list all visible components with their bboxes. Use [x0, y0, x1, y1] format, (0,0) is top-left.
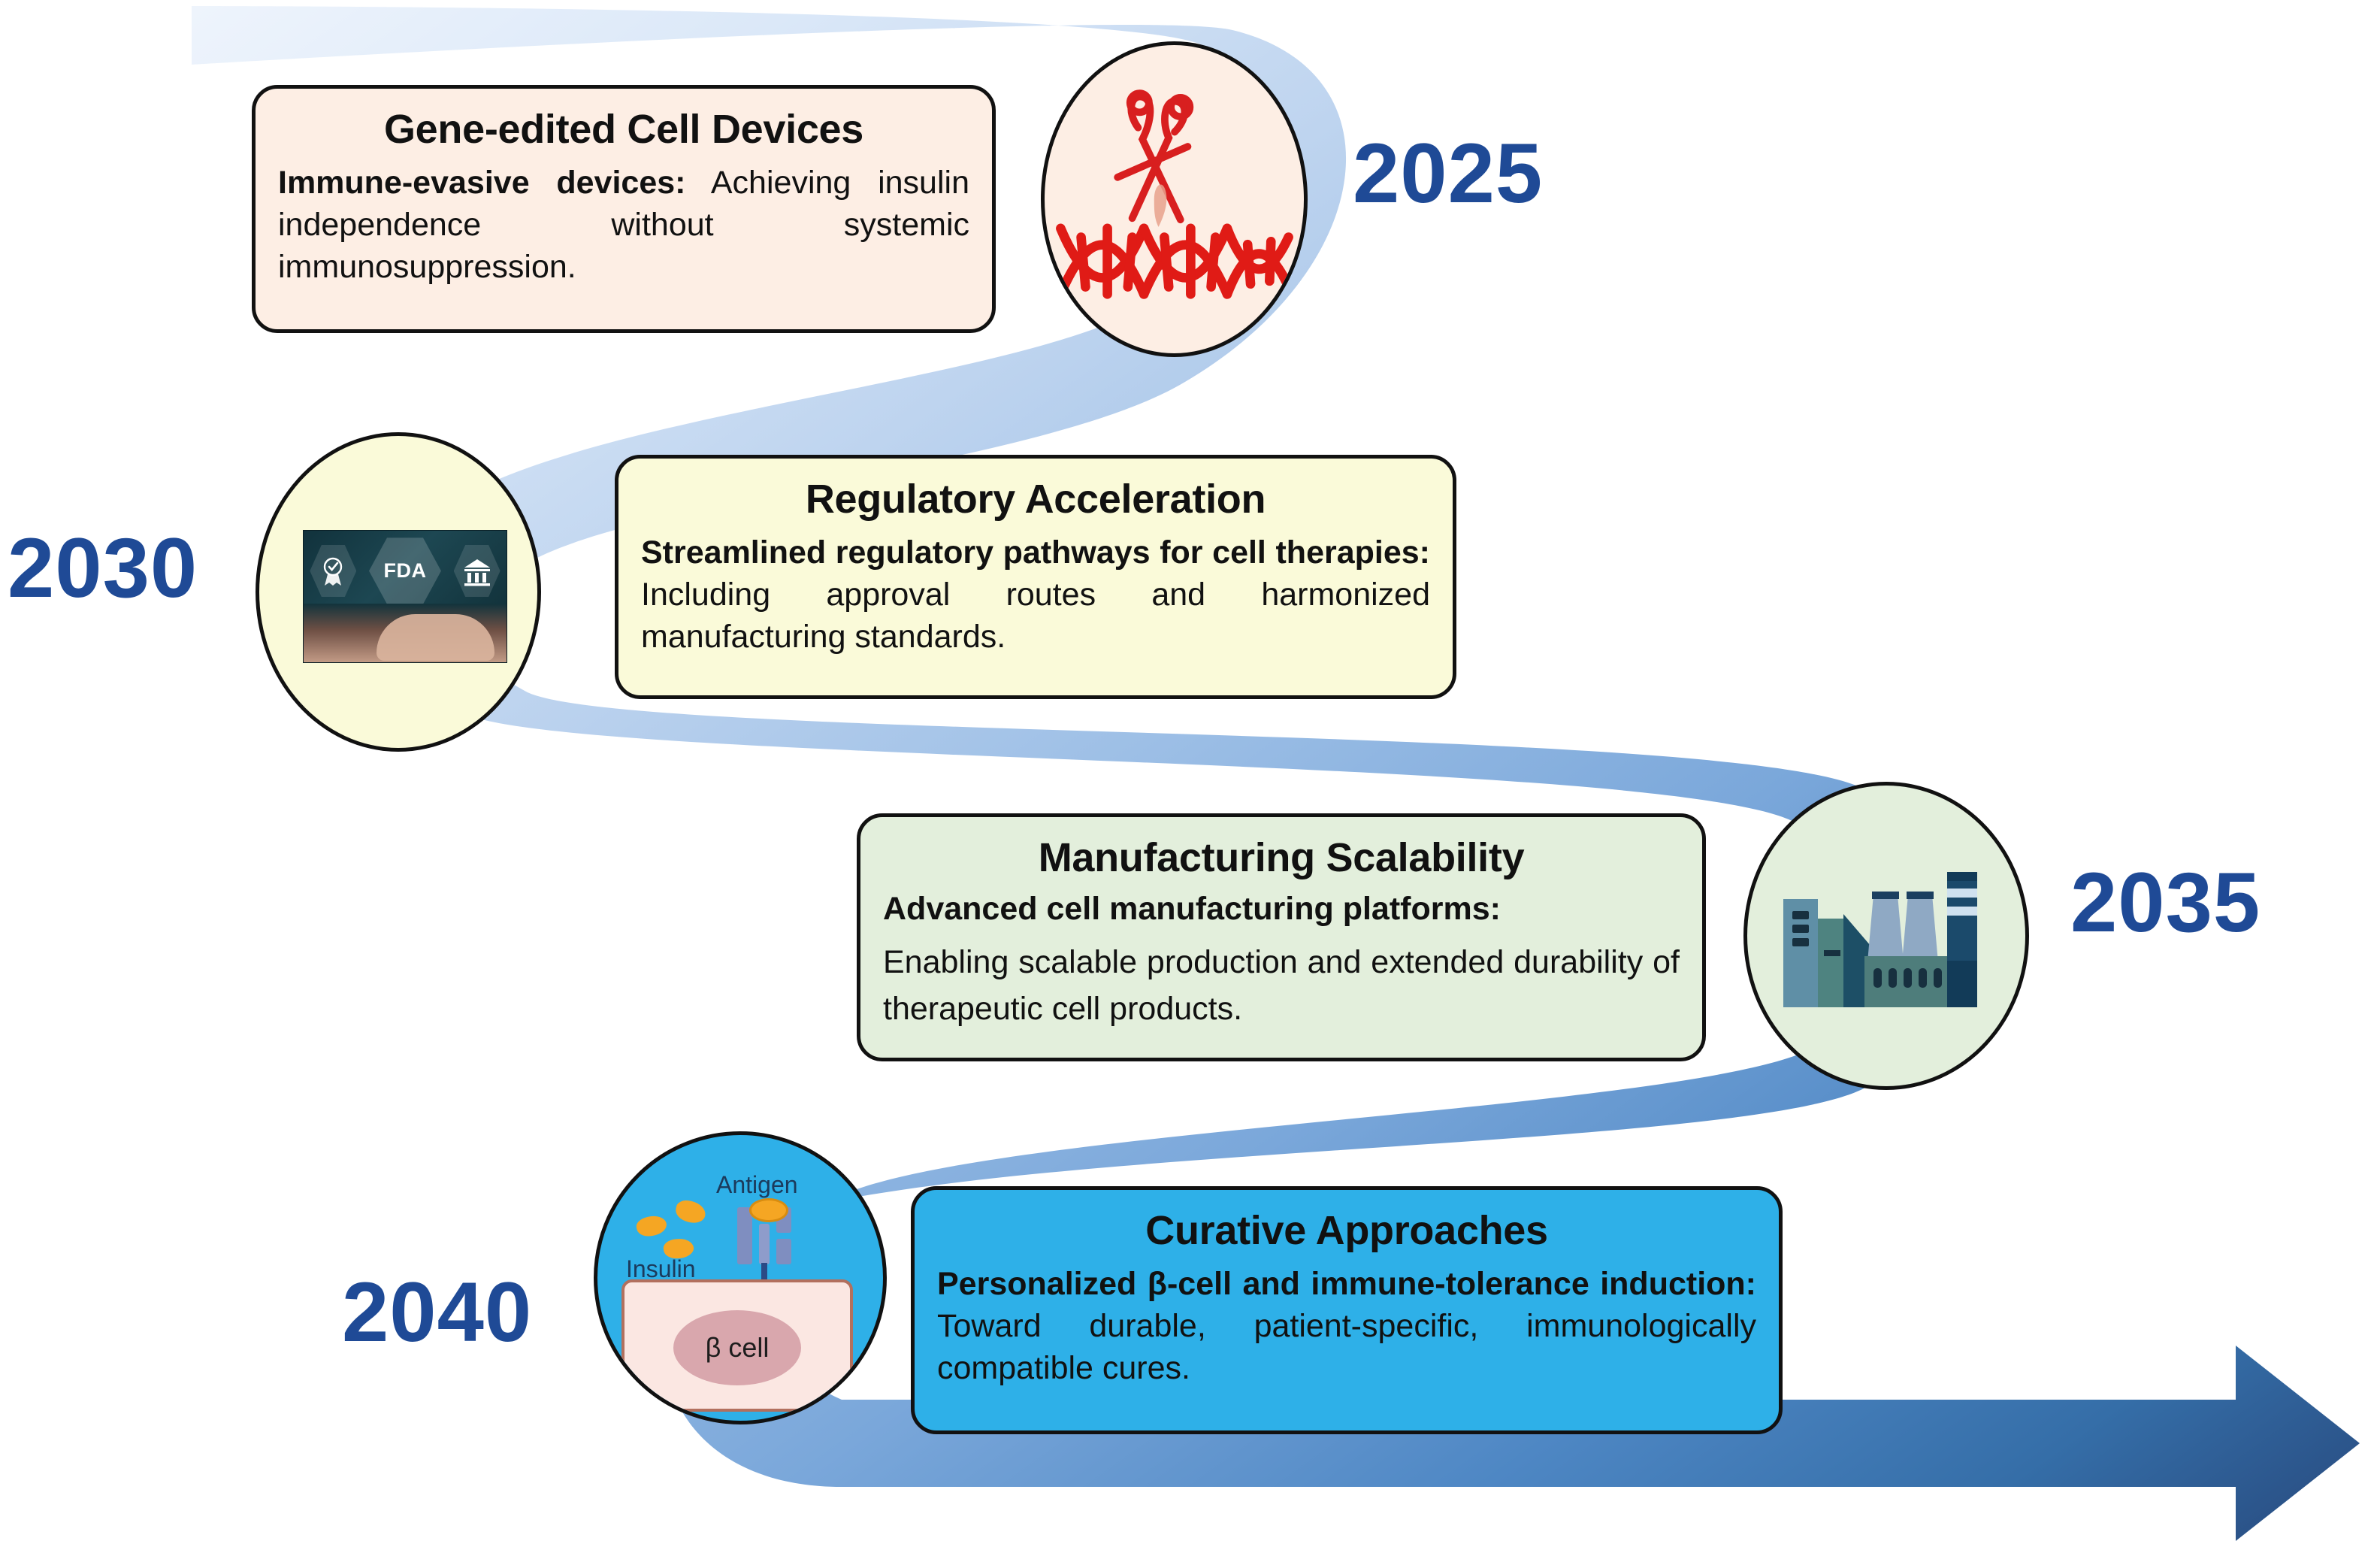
- milestone-card-2040[interactable]: Curative Approaches Personalized β-cell …: [911, 1186, 1783, 1434]
- receptor-icon: [737, 1207, 791, 1288]
- card-title-2040: Curative Approaches: [937, 1208, 1756, 1253]
- card-body-rest-2035: Enabling scalable production and extende…: [883, 940, 1680, 1031]
- factory-icon: [1783, 872, 1995, 1007]
- card-title-2035: Manufacturing Scalability: [883, 835, 1680, 880]
- antigen-dot-icon: [749, 1198, 788, 1222]
- beta-cell-nucleus: β cell: [673, 1310, 801, 1385]
- card-body-rest-2030: Including approval routes and harmonized…: [641, 577, 1430, 655]
- year-label-2040: 2040: [342, 1270, 532, 1355]
- milestone-circle-2040[interactable]: Antigen Insulin β cell: [594, 1131, 887, 1424]
- year-label-2025: 2025: [1353, 132, 1543, 216]
- year-label-2030: 2030: [8, 526, 198, 610]
- certification-badge-icon: [310, 544, 356, 598]
- open-hand-photo: [304, 604, 507, 662]
- year-label-2035: 2035: [2070, 861, 2261, 945]
- milestone-circle-2035[interactable]: [1743, 782, 2029, 1090]
- milestone-circle-2030[interactable]: FDA: [256, 432, 541, 752]
- government-building-icon: [454, 544, 500, 598]
- card-body-lead-2040: Personalized β-cell and immune-tolerance…: [937, 1266, 1756, 1302]
- cell-membrane-box: β cell: [621, 1279, 853, 1412]
- milestone-card-2025[interactable]: Gene-edited Cell Devices Immune-evasive …: [252, 85, 996, 333]
- beta-cell-diagram-icon: Antigen Insulin β cell: [597, 1135, 883, 1421]
- milestone-card-2035[interactable]: Manufacturing Scalability Advanced cell …: [857, 813, 1706, 1061]
- insulin-granule-icon: [634, 1213, 668, 1240]
- fda-approval-photo-icon: FDA: [303, 530, 507, 663]
- card-body-lead-2025: Immune-evasive devices:: [278, 165, 685, 201]
- beta-cell-label: β cell: [706, 1332, 770, 1364]
- card-body-2040: Personalized β-cell and immune-tolerance…: [937, 1264, 1756, 1390]
- fda-label: FDA: [383, 559, 426, 583]
- insulin-granule-icon: [674, 1198, 708, 1225]
- card-body-2030: Streamlined regulatory pathways for cell…: [641, 532, 1430, 658]
- hexagon-row: FDA: [304, 535, 507, 607]
- card-body-rest-2040: Toward durable, patient-specific, immuno…: [937, 1308, 1756, 1386]
- dna-scissors-icon: [1045, 45, 1304, 353]
- milestone-circle-2025[interactable]: [1041, 41, 1308, 357]
- card-body-lead-2030: Streamlined regulatory pathways for cell…: [641, 534, 1430, 571]
- card-title-2030: Regulatory Acceleration: [641, 477, 1430, 522]
- card-title-2025: Gene-edited Cell Devices: [278, 107, 969, 152]
- timeline-figure: Gene-edited Cell Devices Immune-evasive …: [0, 0, 2380, 1547]
- antigen-label: Antigen: [716, 1171, 798, 1199]
- card-body-2025: Immune-evasive devices: Achieving insuli…: [278, 162, 969, 289]
- milestone-card-2030[interactable]: Regulatory Acceleration Streamlined regu…: [615, 455, 1456, 699]
- card-body-lead-2035: Advanced cell manufacturing platforms:: [883, 891, 1680, 928]
- fda-hexagon: FDA: [369, 537, 441, 606]
